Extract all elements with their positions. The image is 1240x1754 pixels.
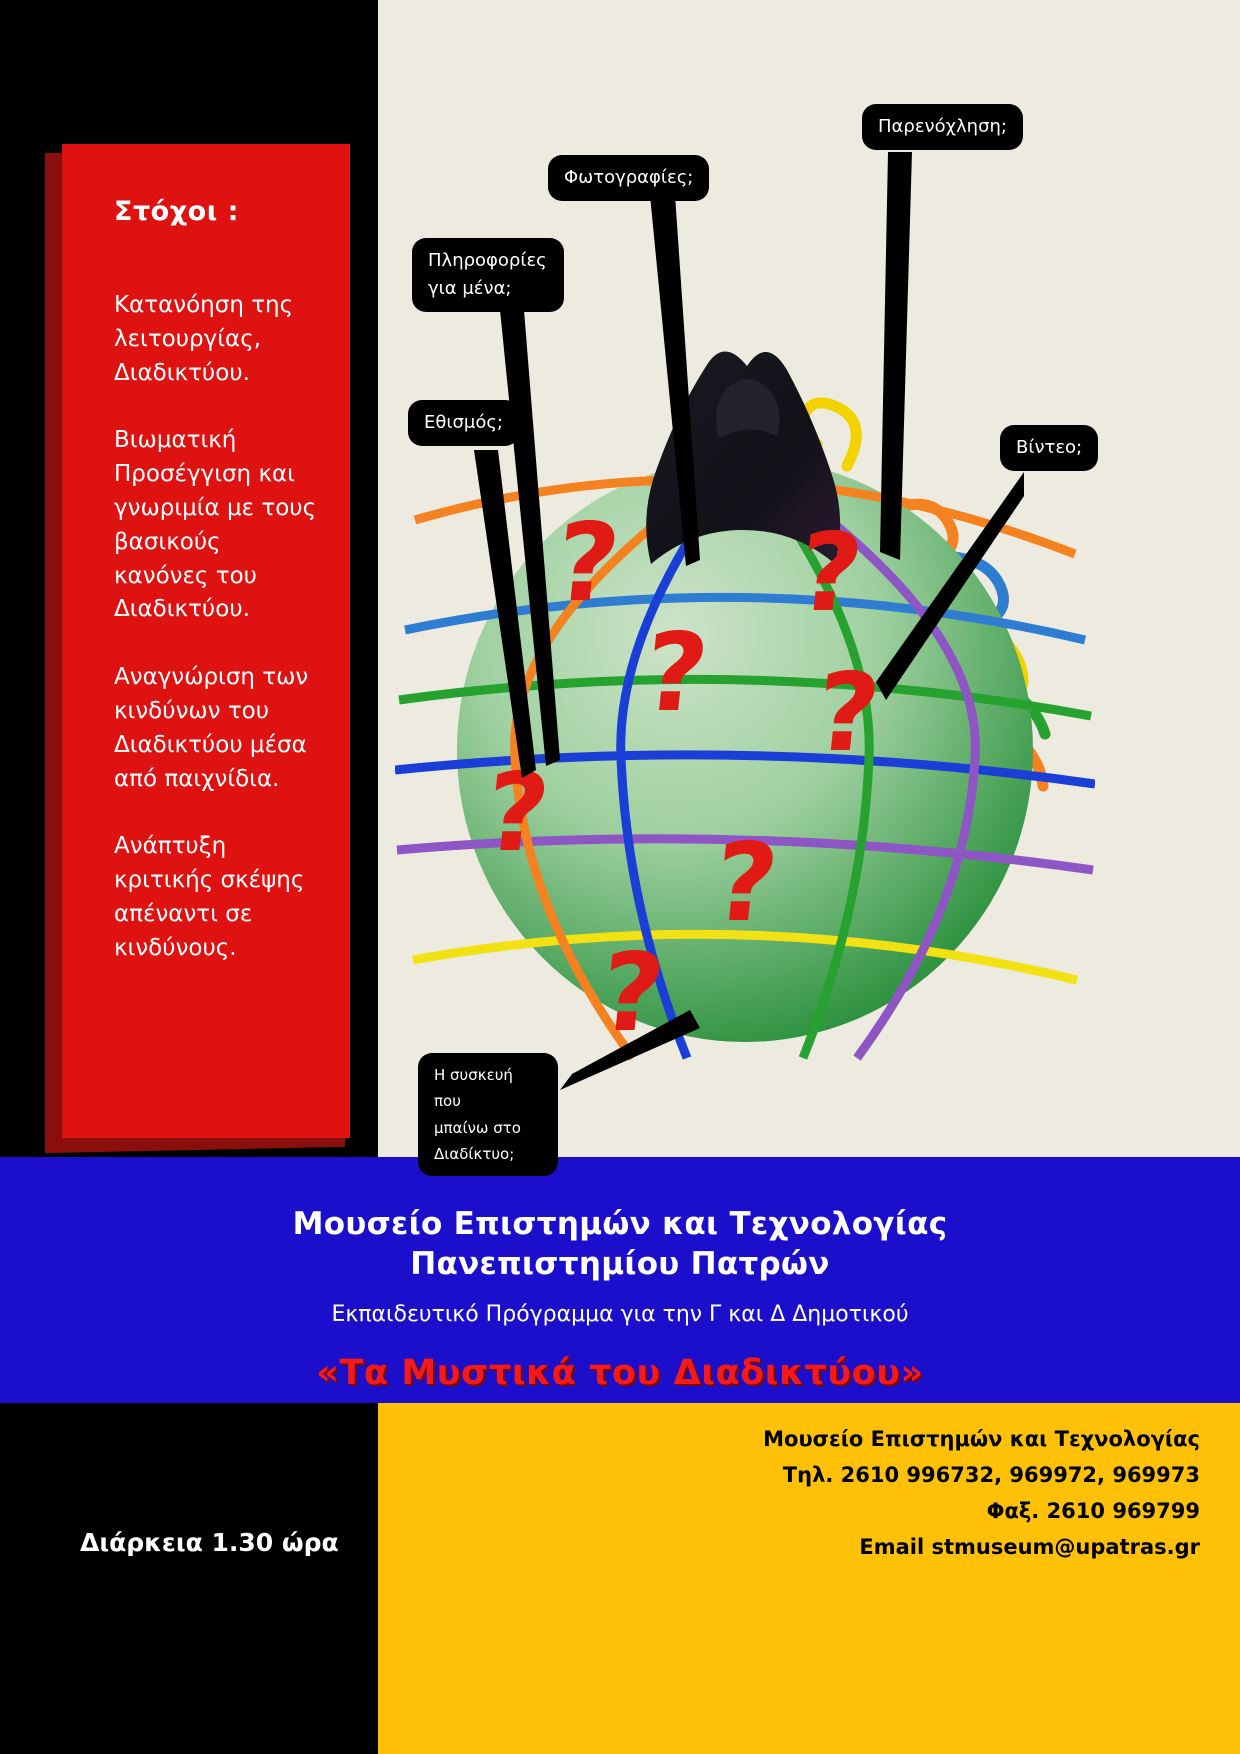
contact-name: Μουσείο Επιστημών και Τεχνολογίας xyxy=(378,1421,1200,1457)
duration-label: Διάρκεια 1.30 ώρα xyxy=(80,1528,339,1557)
bubble-photos[interactable]: Φωτογραφίες; xyxy=(548,155,709,201)
bubble-addiction[interactable]: Εθισμός; xyxy=(408,400,519,446)
poster: ? ? ? ? ? ? ? Παρενόχληση; Φωτογραφίες; … xyxy=(0,0,1240,1754)
bubble-video[interactable]: Βίντεο; xyxy=(1000,425,1098,471)
programme-title: «Τα Μυστικά του Διαδικτύου» xyxy=(0,1327,1240,1393)
programme-subtitle: Εκπαιδευτικό Πρόγραμμα για την Γ και Δ Δ… xyxy=(0,1284,1240,1327)
footer-blue-band: Μουσείο Επιστημών και Τεχνολογίας Πανεπι… xyxy=(0,1157,1240,1403)
organisation-name: Μουσείο Επιστημών και Τεχνολογίας Πανεπι… xyxy=(0,1157,1240,1284)
bubble-info-about-me[interactable]: Πληροφορίες για μένα; xyxy=(412,238,564,312)
contact-email[interactable]: Email stmuseum@upatras.gr xyxy=(378,1529,1200,1565)
bubble-harassment[interactable]: Παρενόχληση; xyxy=(862,104,1023,150)
contact-phone: Τηλ. 2610 996732, 969972, 969973 xyxy=(378,1457,1200,1493)
organisation-line-1: Μουσείο Επιστημών και Τεχνολογίας xyxy=(0,1205,1240,1245)
bubble-device[interactable]: Η συσκευή που μπαίνω στο Διαδίκτυο; xyxy=(418,1053,558,1176)
organisation-line-2: Πανεπιστημίου Πατρών xyxy=(0,1245,1240,1285)
contact-fax: Φαξ. 2610 969799 xyxy=(378,1493,1200,1529)
contact-block: Μουσείο Επιστημών και Τεχνολογίας Τηλ. 2… xyxy=(378,1403,1240,1754)
